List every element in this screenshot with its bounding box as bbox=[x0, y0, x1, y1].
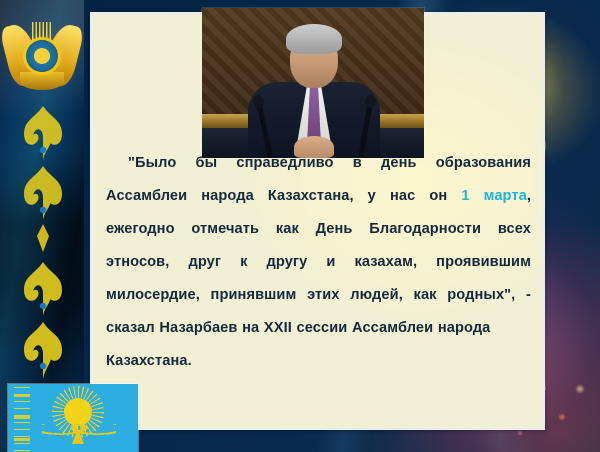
photo-hair bbox=[286, 24, 342, 54]
quote-part2: , ежегодно отмечать как День Благодарнос… bbox=[106, 188, 531, 336]
slide: "Было бы справедливо в день образования … bbox=[0, 0, 600, 452]
quote-highlight-date: 1 марта bbox=[461, 188, 526, 204]
quote-text: "Было бы справедливо в день образования … bbox=[106, 147, 531, 378]
photo-hand bbox=[294, 136, 334, 158]
quote-last-line: Казахстана. bbox=[106, 345, 531, 378]
emblem-sun bbox=[34, 48, 50, 64]
flag-sun bbox=[64, 398, 92, 426]
kazakhstan-flag-image bbox=[8, 384, 138, 452]
flag-ornament-band bbox=[14, 384, 30, 452]
kazakh-ornament-upper-icon bbox=[18, 104, 68, 254]
emblem-base bbox=[20, 72, 64, 90]
nazarbayev-photo bbox=[202, 8, 424, 158]
kazakhstan-emblem-icon bbox=[6, 18, 78, 96]
